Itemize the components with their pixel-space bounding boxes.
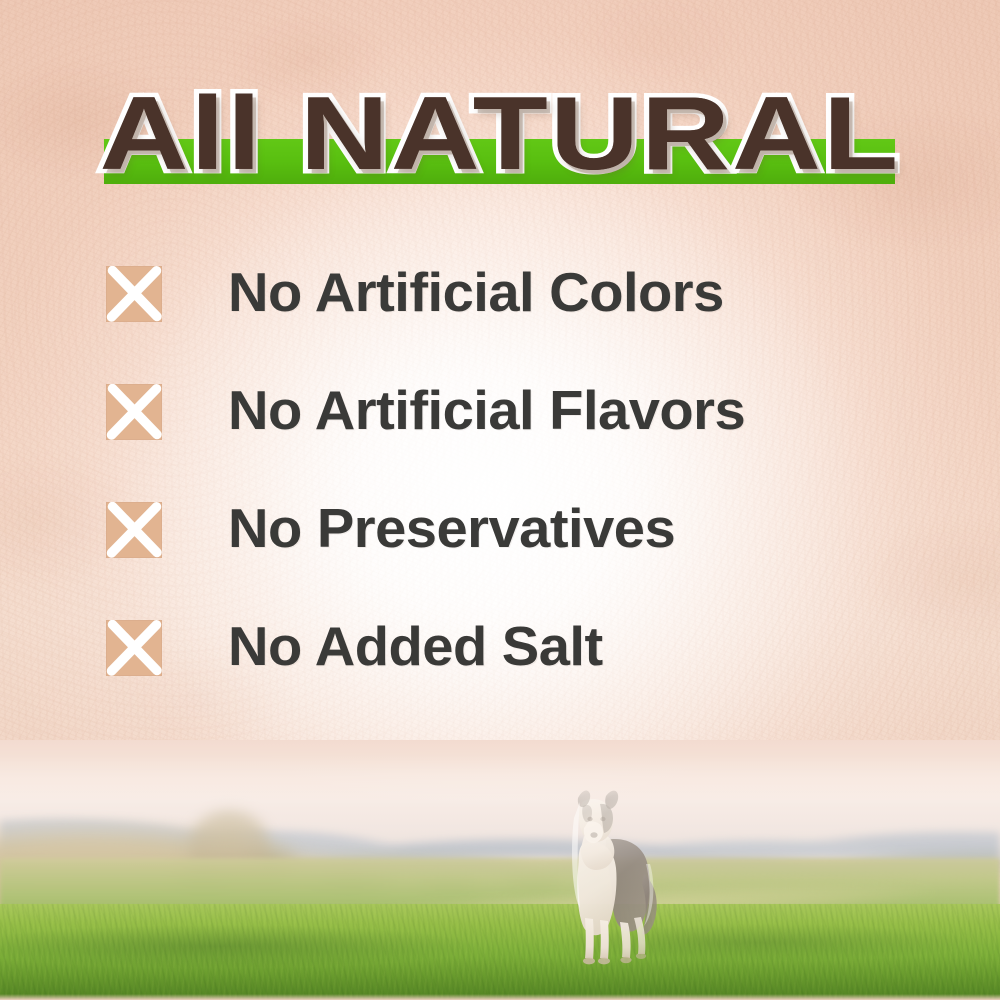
list-item: No Artificial Flavors: [106, 381, 926, 499]
list-item: No Preservatives: [106, 499, 926, 617]
x-mark-icon: [106, 620, 162, 676]
x-mark-icon: [106, 384, 162, 440]
x-mark-icon: [106, 266, 162, 322]
hero-photo: [0, 740, 1000, 1000]
list-item: No Artificial Colors: [106, 263, 926, 381]
border-collie-dog: [528, 778, 688, 978]
x-mark-icon: [106, 502, 162, 558]
list-item-label: No Artificial Flavors: [228, 381, 940, 439]
page-title: All NATURAL: [0, 78, 1000, 190]
grass-shading: [0, 904, 1000, 1000]
all-natural-infographic: All NATURAL All NATURAL No Artificial Co…: [0, 0, 1000, 1000]
list-item-label: No Artificial Colors: [228, 263, 940, 321]
list-item-label: No Added Salt: [228, 617, 940, 675]
list-item: No Added Salt: [106, 617, 926, 735]
list-item-label: No Preservatives: [228, 499, 940, 557]
claims-list: No Artificial Colors No Artificial Flavo…: [106, 263, 926, 735]
headline-banner: All NATURAL All NATURAL: [0, 78, 1000, 196]
